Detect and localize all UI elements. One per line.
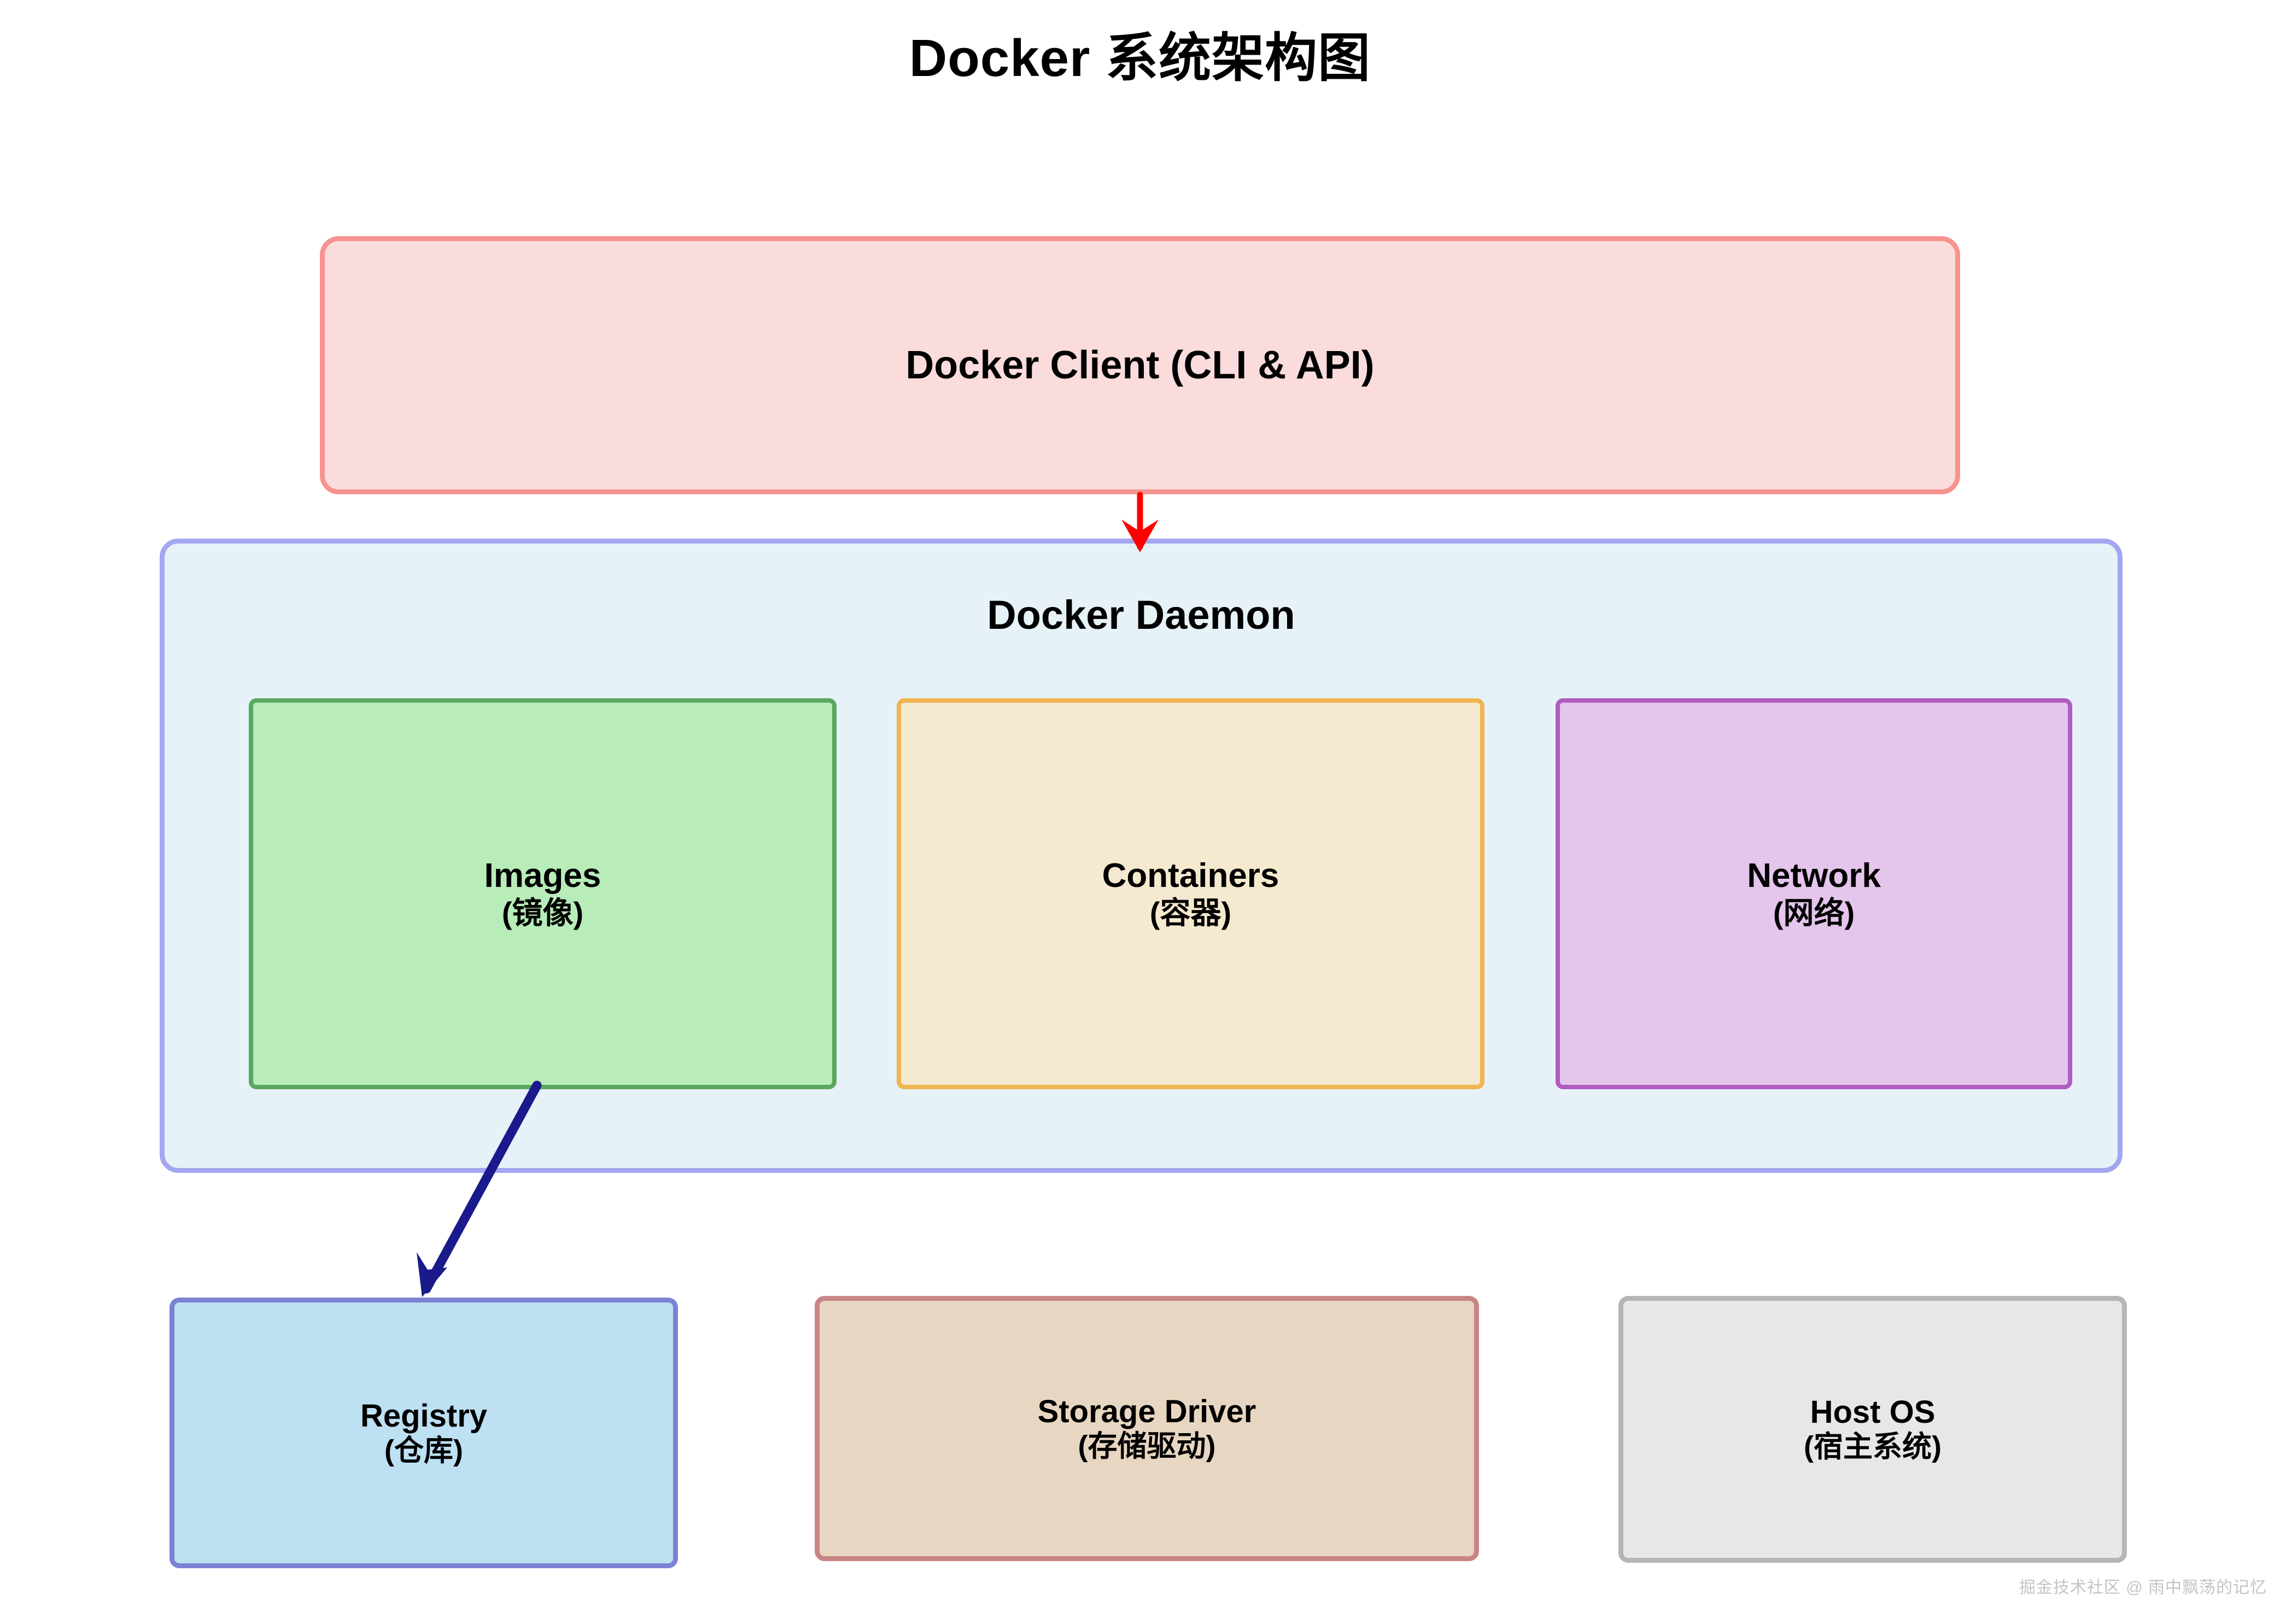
network-label-zh: (网络) <box>1773 896 1855 931</box>
docker-client-label: Docker Client (CLI & API) <box>905 343 1374 388</box>
node-docker-client[interactable]: Docker Client (CLI & API) <box>320 236 1960 494</box>
diagram-canvas: Docker 系统架构图 Docker Client (CLI & API) D… <box>0 0 2280 1624</box>
page-title: Docker 系统架构图 <box>0 15 2280 91</box>
images-label-en: Images <box>484 857 601 896</box>
docker-daemon-label: Docker Daemon <box>165 592 2118 638</box>
node-host-os[interactable]: Host OS (宿主系统) <box>1618 1296 2127 1563</box>
registry-label-en: Registry <box>360 1398 487 1434</box>
containers-label-en: Containers <box>1102 857 1279 896</box>
host-os-label-zh: (宿主系统) <box>1804 1430 1942 1464</box>
host-os-label-en: Host OS <box>1810 1394 1936 1430</box>
registry-label-zh: (仓库) <box>384 1434 463 1468</box>
storage-driver-label-en: Storage Driver <box>1038 1394 1256 1430</box>
containers-label-zh: (容器) <box>1150 896 1231 931</box>
node-images[interactable]: Images (镜像) <box>249 698 837 1089</box>
node-containers[interactable]: Containers (容器) <box>897 698 1484 1089</box>
images-label-zh: (镜像) <box>502 896 583 931</box>
node-network[interactable]: Network (网络) <box>1556 698 2072 1089</box>
storage-driver-label-zh: (存储驱动) <box>1078 1430 1216 1464</box>
node-registry[interactable]: Registry (仓库) <box>169 1298 678 1568</box>
node-storage-driver[interactable]: Storage Driver (存储驱动) <box>815 1296 1479 1561</box>
network-label-en: Network <box>1747 857 1881 896</box>
watermark: 掘金技术社区 @ 雨中飘荡的记忆 <box>2019 1574 2267 1598</box>
